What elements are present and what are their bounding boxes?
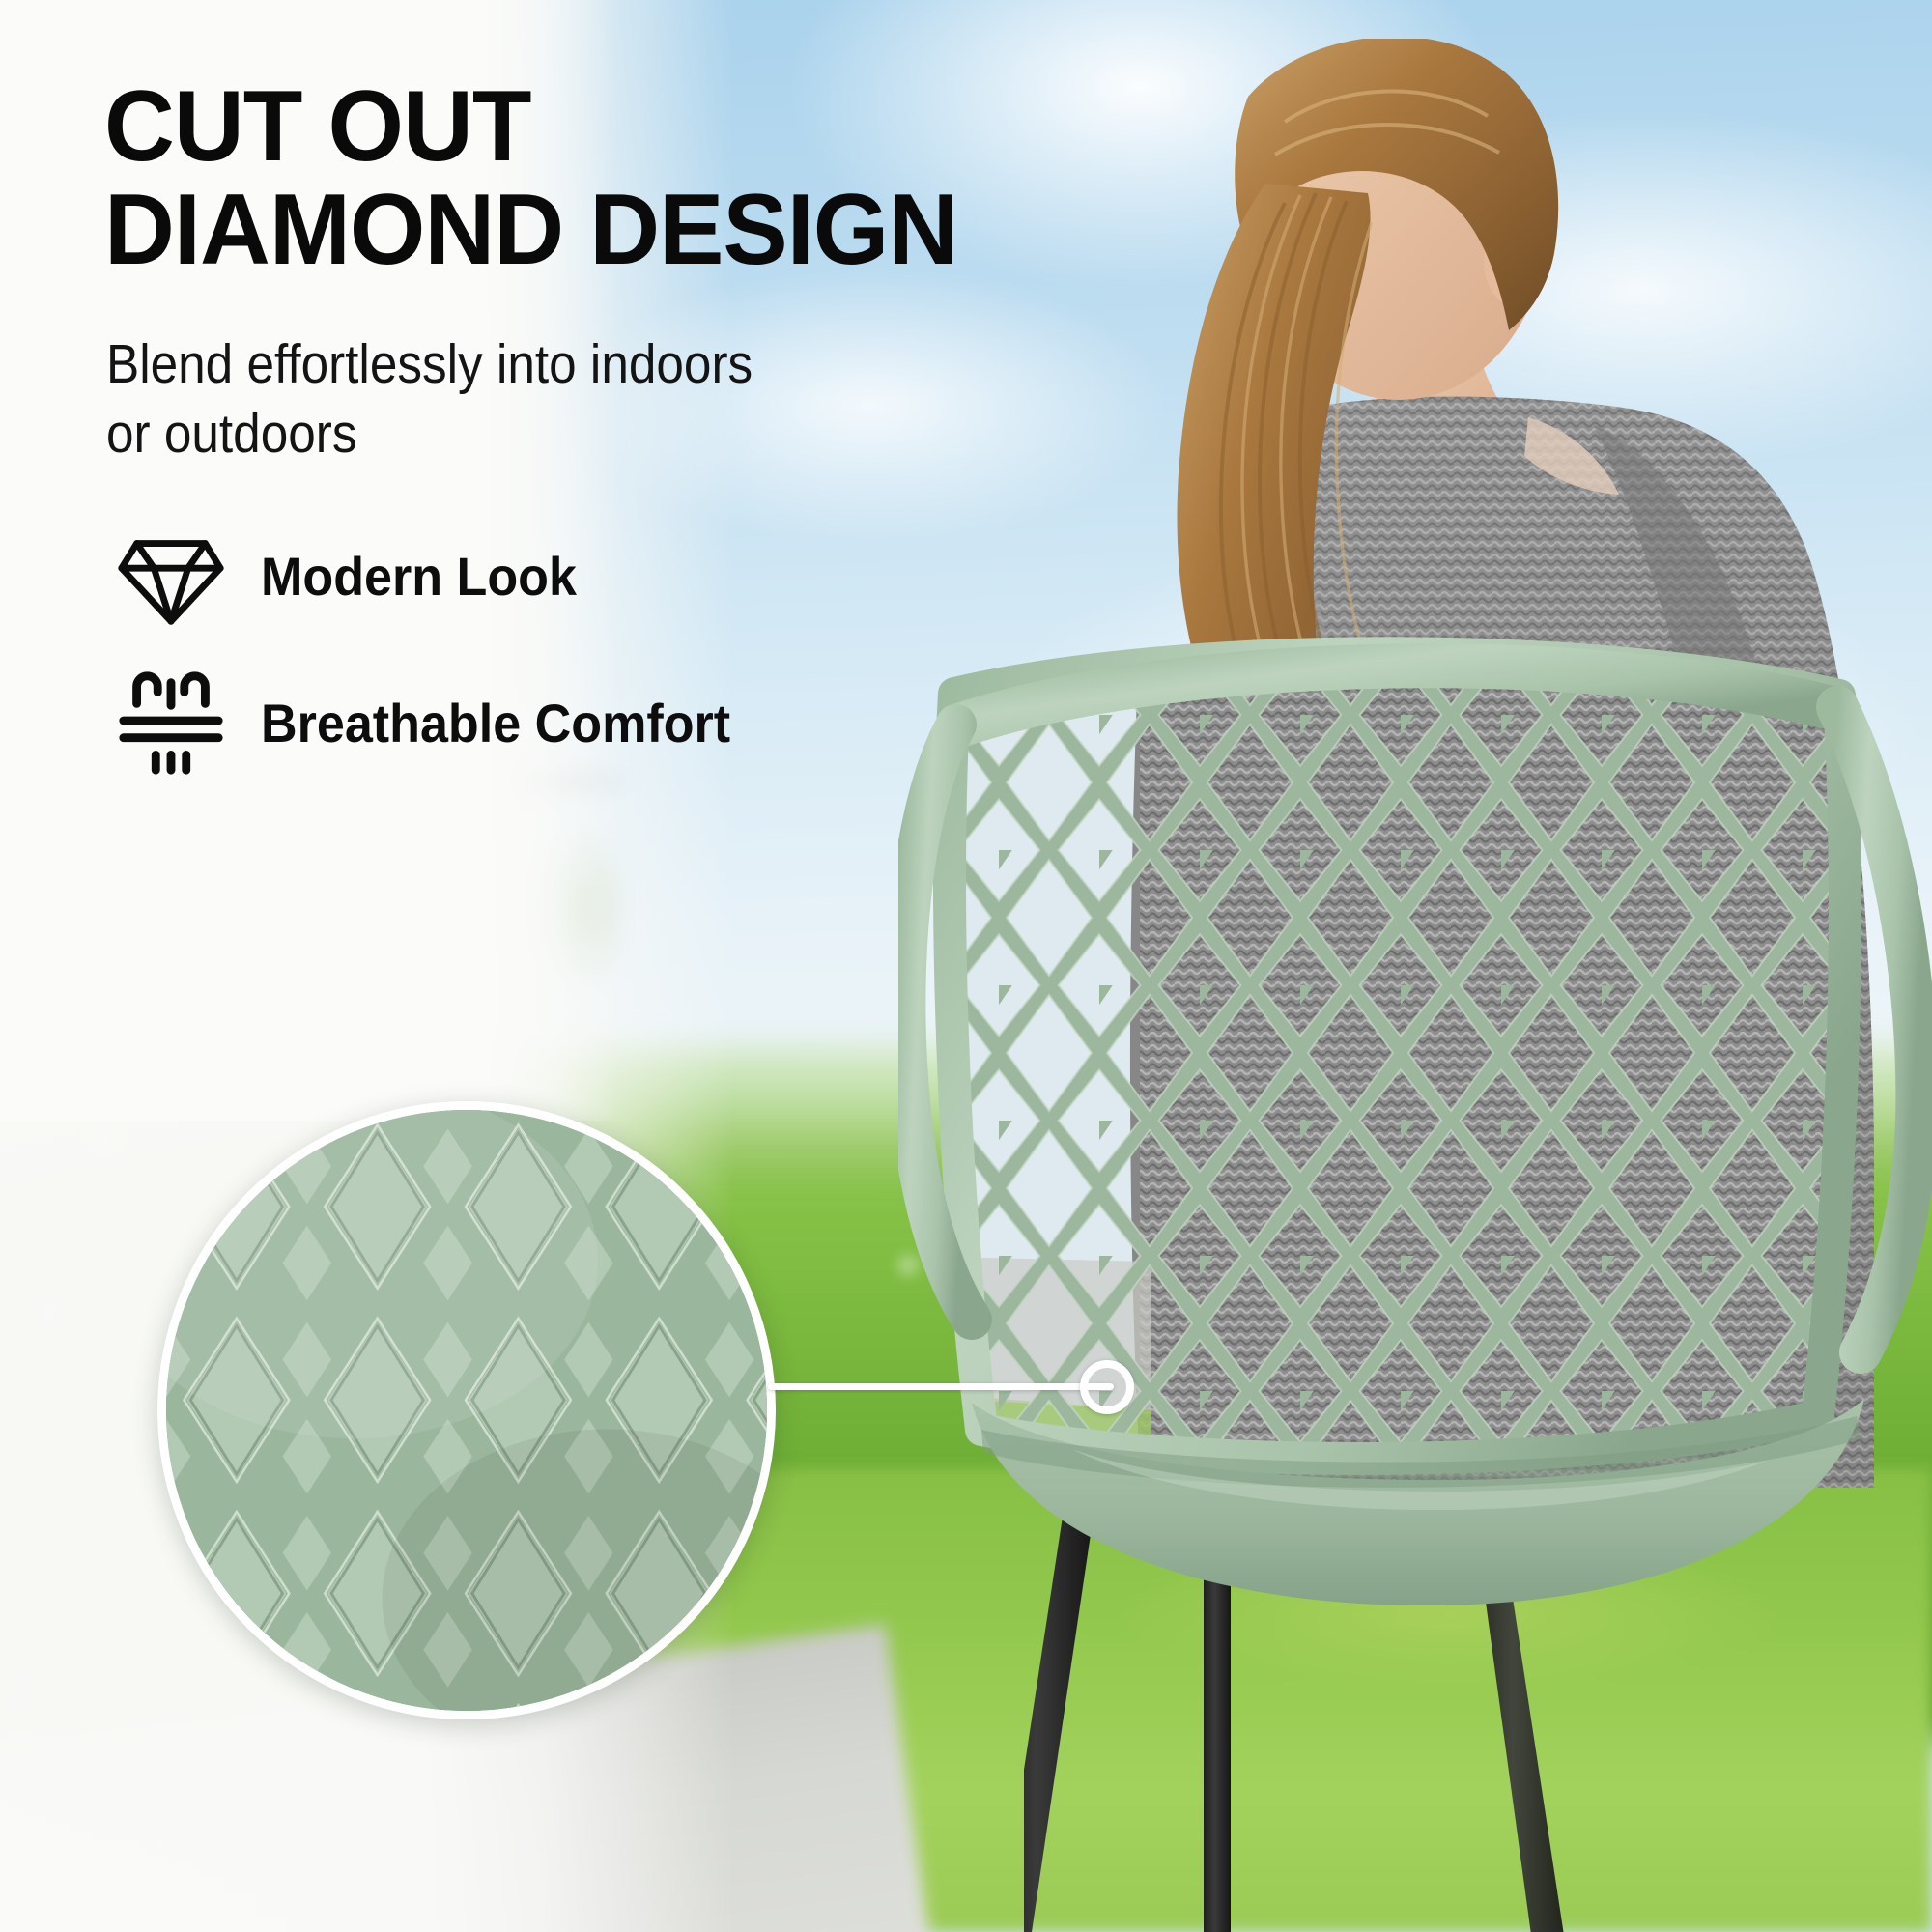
callout-leader-line [768,1383,1114,1390]
breathable-airflow-icon [114,668,228,777]
headline-line-1: CUT OUT [104,75,1004,179]
feature-item-breathable-comfort: Breathable Comfort [114,668,766,777]
product-feature-image: CUT OUT DIAMOND DESIGN Blend effortlessl… [0,0,1932,1932]
diamond-cutout-chair [898,580,1932,1642]
diamond-gem-icon [114,522,228,630]
subtitle: Blend effortlessly into indoors or outdo… [106,330,819,469]
lattice-target-marker [1080,1360,1134,1414]
feature-label: Modern Look [261,545,577,608]
headline-line-2: DIAMOND DESIGN [104,179,1004,282]
subtitle-line-2: or outdoors [106,400,819,469]
page-title: CUT OUT DIAMOND DESIGN [104,75,1004,282]
feature-label: Breathable Comfort [261,692,730,754]
subtitle-line-1: Blend effortlessly into indoors [106,330,819,400]
diamond-lattice-zoom-circle [157,1101,776,1719]
feature-item-modern-look: Modern Look [114,522,601,630]
